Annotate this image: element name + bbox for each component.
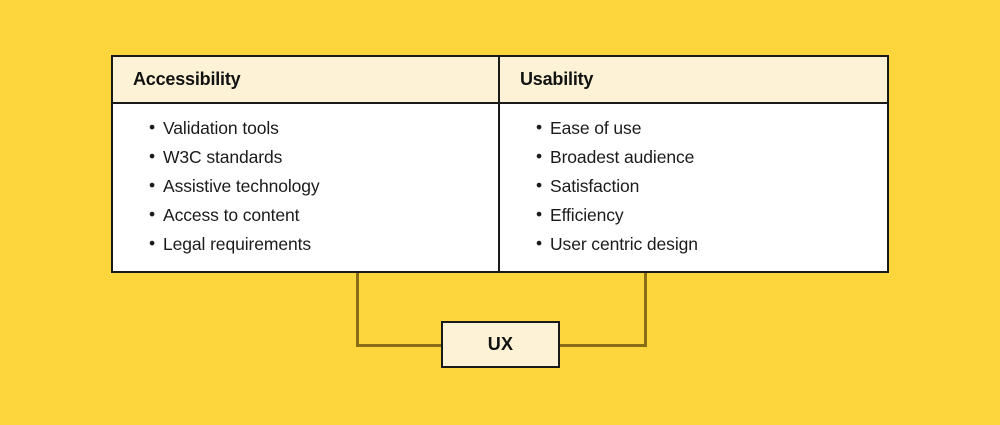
connector-line-left-vertical: [356, 273, 359, 347]
bullet-icon: •: [536, 118, 550, 136]
bullet-icon: •: [536, 147, 550, 165]
diagram-canvas: Accessibility • Validation tools • W3C s…: [0, 0, 1000, 425]
bullet-icon: •: [536, 205, 550, 223]
column-body-usability: • Ease of use • Broadest audience • Sati…: [500, 104, 887, 271]
column-header-accessibility: Accessibility: [113, 57, 498, 104]
list-item: • Legal requirements: [113, 234, 498, 263]
bullet-icon: •: [149, 205, 163, 223]
column-body-accessibility: • Validation tools • W3C standards • Ass…: [113, 104, 498, 271]
list-item: • Efficiency: [500, 205, 887, 234]
list-item-label: User centric design: [550, 234, 698, 254]
list-item-label: Ease of use: [550, 118, 641, 138]
connector-line-right-vertical: [644, 273, 647, 347]
bullet-icon: •: [536, 234, 550, 252]
list-item: • Ease of use: [500, 118, 887, 147]
list-item: • Broadest audience: [500, 147, 887, 176]
list-item-label: Broadest audience: [550, 147, 694, 167]
list-item: • W3C standards: [113, 147, 498, 176]
list-item-label: Legal requirements: [163, 234, 311, 254]
list-item: • Satisfaction: [500, 176, 887, 205]
list-item-label: Access to content: [163, 205, 299, 225]
bullet-icon: •: [149, 176, 163, 194]
list-item-label: Validation tools: [163, 118, 279, 138]
table-column-accessibility: Accessibility • Validation tools • W3C s…: [113, 57, 500, 271]
list-item: • Assistive technology: [113, 176, 498, 205]
list-item-label: Satisfaction: [550, 176, 639, 196]
comparison-table: Accessibility • Validation tools • W3C s…: [111, 55, 889, 273]
connector-line-left-horizontal: [356, 344, 444, 347]
list-item-label: W3C standards: [163, 147, 282, 167]
table-column-usability: Usability • Ease of use • Broadest audie…: [500, 57, 887, 271]
connector-line-right-horizontal: [557, 344, 647, 347]
ux-node: UX: [441, 321, 560, 368]
bullet-list-usability: • Ease of use • Broadest audience • Sati…: [500, 118, 887, 263]
list-item-label: Assistive technology: [163, 176, 320, 196]
bullet-icon: •: [149, 118, 163, 136]
bullet-icon: •: [149, 234, 163, 252]
list-item: • Access to content: [113, 205, 498, 234]
bullet-icon: •: [149, 147, 163, 165]
list-item-label: Efficiency: [550, 205, 624, 225]
list-item: • Validation tools: [113, 118, 498, 147]
bullet-list-accessibility: • Validation tools • W3C standards • Ass…: [113, 118, 498, 263]
bullet-icon: •: [536, 176, 550, 194]
column-header-usability: Usability: [500, 57, 887, 104]
list-item: • User centric design: [500, 234, 887, 263]
